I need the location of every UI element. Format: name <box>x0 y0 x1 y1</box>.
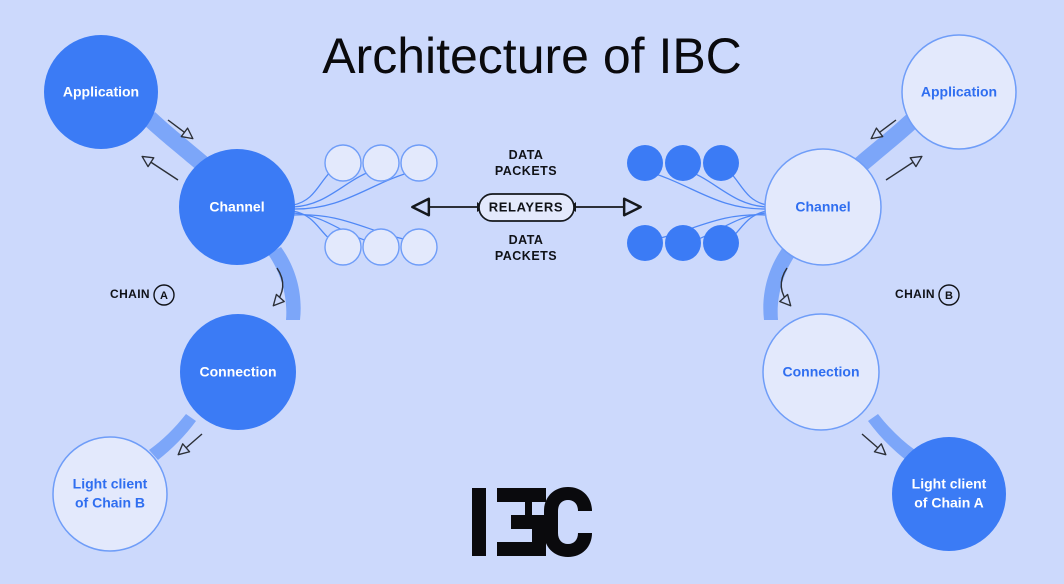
architecture-diagram: Architecture of IBC Application <box>0 0 1064 584</box>
packet-right-2 <box>665 145 701 181</box>
packet-left-2 <box>363 145 399 181</box>
logo-letter-i <box>472 488 486 556</box>
node-channel-right-label: Channel <box>795 199 850 215</box>
chain-a-badge-label: CHAIN <box>110 287 150 301</box>
chain-a-badge-letter: A <box>160 290 168 302</box>
packet-left-4 <box>325 229 361 265</box>
packet-right-5 <box>665 225 701 261</box>
packet-left-5 <box>363 229 399 265</box>
node-lightclient-left-label-line1: Light client <box>73 476 148 492</box>
node-connection-right-label: Connection <box>783 364 860 380</box>
packet-right-6 <box>703 225 739 261</box>
data-packets-top-line2: PACKETS <box>495 164 557 178</box>
data-packets-bottom-line1: DATA <box>509 233 544 247</box>
node-lightclient-right-label-line1: Light client <box>912 476 987 492</box>
page-title: Architecture of IBC <box>322 28 742 84</box>
diagram-canvas: Architecture of IBC Application <box>0 0 1064 584</box>
node-connection-left-label: Connection <box>200 364 277 380</box>
packet-left-3 <box>401 145 437 181</box>
data-packets-top-line1: DATA <box>509 148 544 162</box>
packet-right-4 <box>627 225 663 261</box>
chain-b-badge-letter: B <box>945 290 953 302</box>
packet-left-6 <box>401 229 437 265</box>
packet-right-1 <box>627 145 663 181</box>
node-channel-left-label: Channel <box>209 199 264 215</box>
node-application-right-label: Application <box>921 84 997 100</box>
packet-left-1 <box>325 145 361 181</box>
node-lightclient-right-label-line2: of Chain A <box>914 495 983 511</box>
relayers-label: RELAYERS <box>489 199 563 214</box>
chain-b-badge-label: CHAIN <box>895 287 935 301</box>
data-packets-bottom-line2: PACKETS <box>495 249 557 263</box>
packet-right-3 <box>703 145 739 181</box>
node-application-left-label: Application <box>63 84 139 100</box>
node-lightclient-left-label-line2: of Chain B <box>75 495 145 511</box>
